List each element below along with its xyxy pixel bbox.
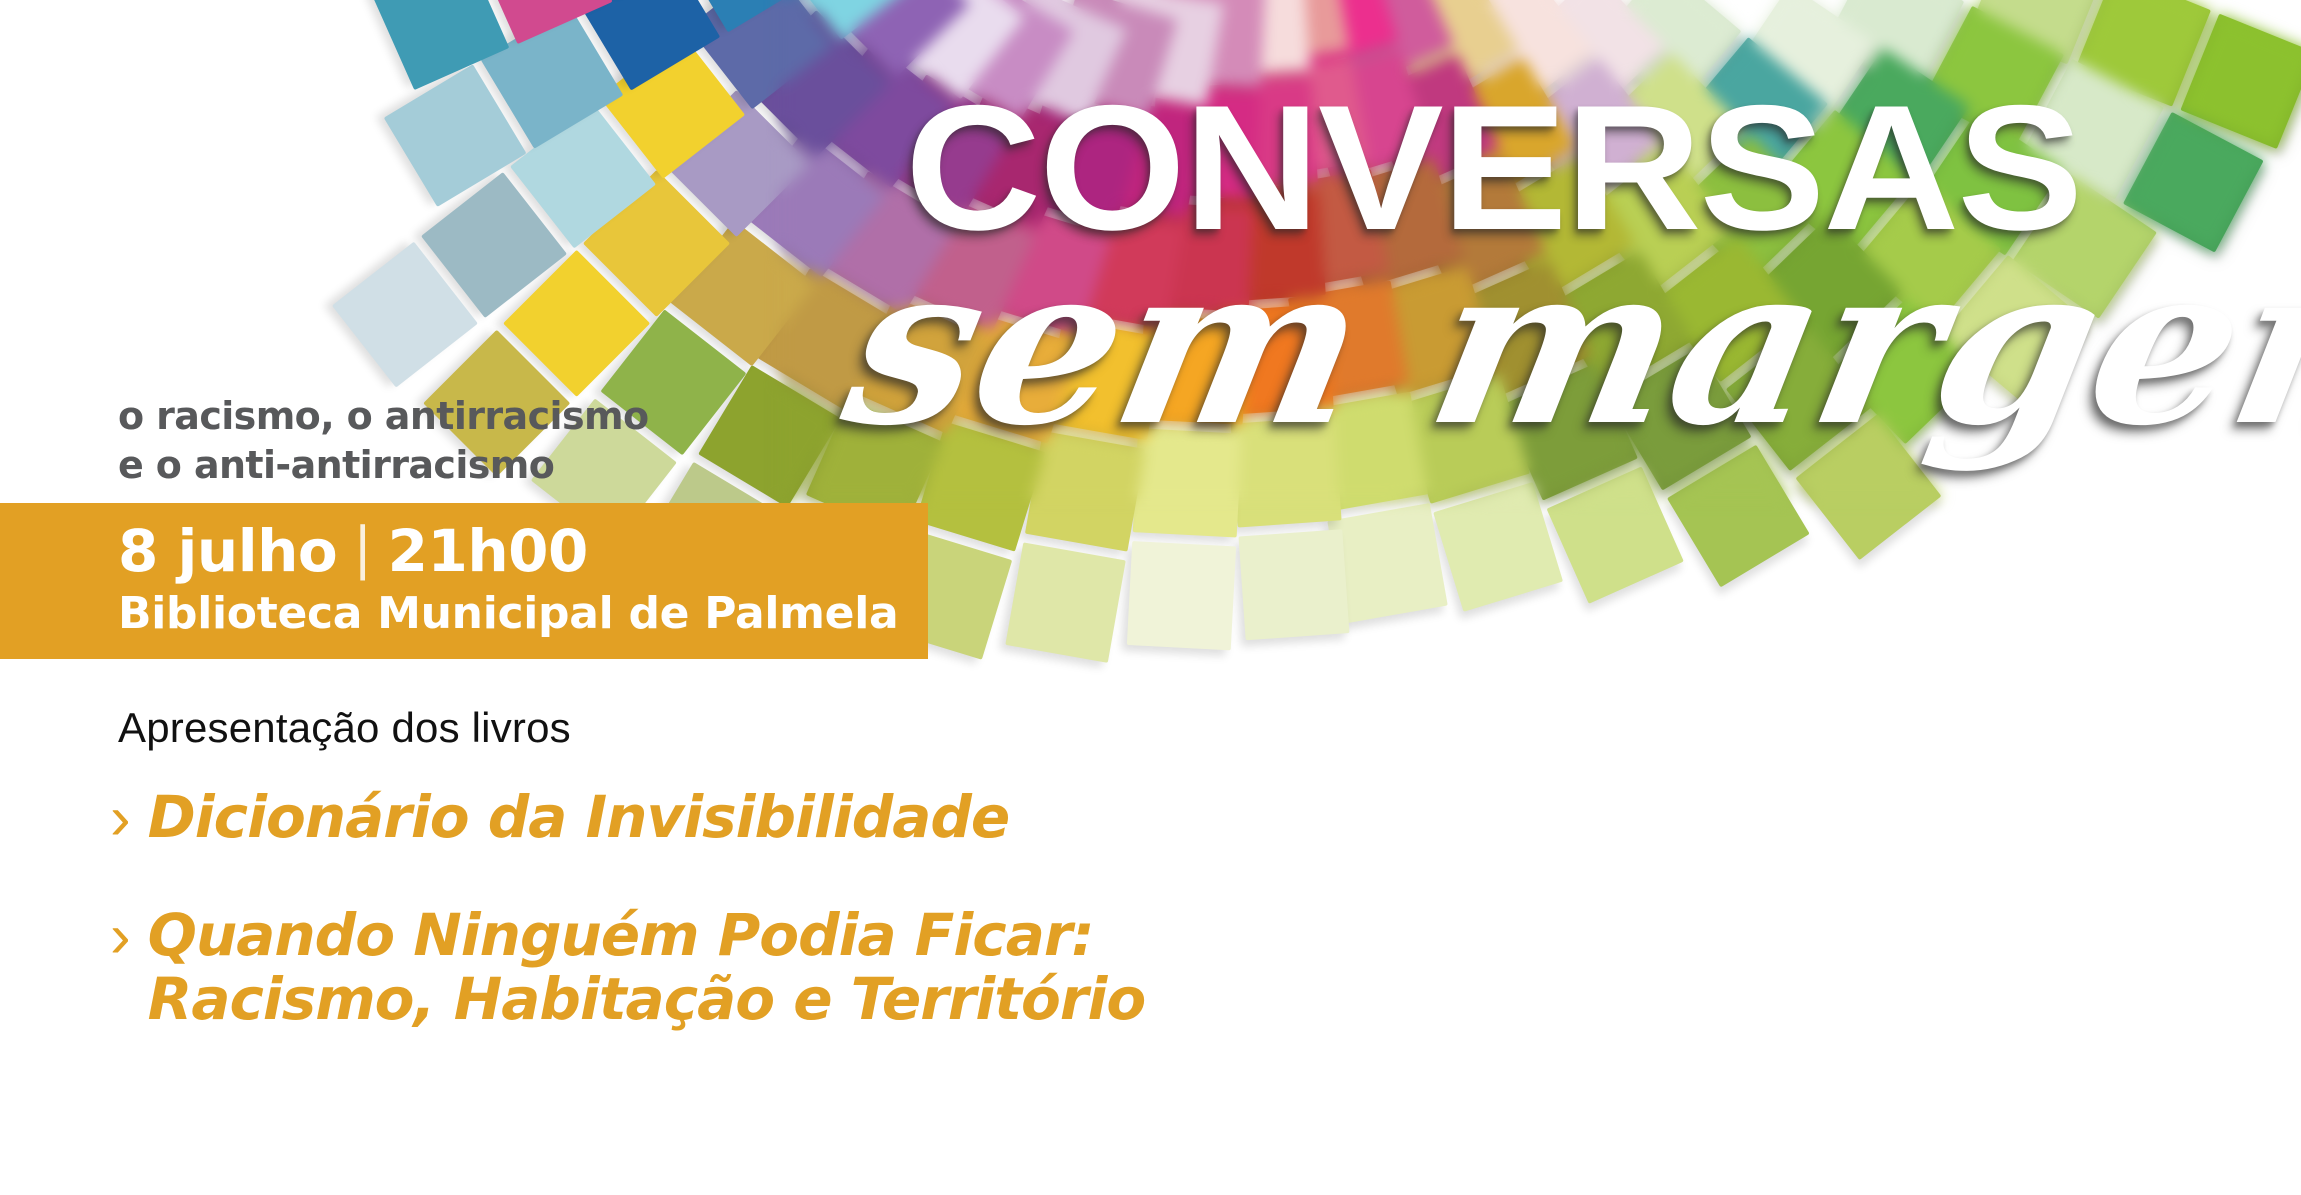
book-title-line: Quando Ninguém Podia Ficar: [148,904,1146,968]
colour-swatch [510,102,656,248]
swatch-strip [1206,0,2272,257]
colour-swatch [1199,0,1310,77]
colour-swatch [1434,57,1577,200]
colour-swatch [852,297,989,434]
colour-swatch [780,268,899,411]
colour-swatch [1941,255,2088,402]
colour-swatch [1376,0,1519,103]
colour-swatch [1229,0,1349,67]
colour-swatch [421,172,567,318]
colour-swatch [674,0,817,32]
colour-swatch [777,0,923,40]
book-item: › Quando Ninguém Podia Ficar: Racismo, H… [110,904,1145,1032]
colour-swatch [1587,147,1733,293]
colour-swatch [1156,0,1265,86]
colour-swatch [1676,135,1823,282]
swatch-strip [780,0,1262,393]
colour-swatch [1327,503,1447,623]
colour-swatch [1025,431,1145,551]
colour-swatch [1825,48,1969,192]
colour-swatch [1833,297,1980,444]
colour-swatch [1150,90,1259,199]
colour-swatch [1547,466,1684,603]
swatch-strip [1185,0,1814,500]
colour-swatch [1676,135,1823,282]
swatch-strip [780,0,1271,500]
colour-swatch [1064,209,1184,329]
colour-swatch [1656,236,1802,382]
colour-swatch [1667,445,1810,588]
colour-swatch [688,0,834,109]
colour-swatch [1681,37,1828,184]
colour-swatch [481,6,624,149]
colour-swatch [809,42,955,188]
swatch-strip [1180,0,1565,500]
colour-swatch [1492,154,1635,297]
colour-swatch [1434,57,1577,200]
colour-swatch [944,90,1081,227]
colour-swatch [780,220,816,366]
colour-swatch [1084,97,1204,217]
colour-swatch [1133,428,1242,537]
colour-swatch [1215,191,1326,302]
colour-swatch [990,0,1127,124]
colour-swatch [1795,414,1941,560]
colour-swatch [1367,266,1497,396]
colour-swatch [1492,154,1635,297]
colour-swatch [1732,0,1876,129]
colour-swatch [1824,0,1965,93]
swatch-strip [1182,0,1687,500]
colour-swatch [1971,0,2106,64]
colour-swatch [1855,182,2002,329]
colour-swatch [1268,169,1388,289]
colour-swatch [2076,0,2211,107]
swatch-strip [1201,0,2164,324]
colour-swatch [2180,14,2301,149]
colour-swatch [1048,0,1178,119]
colour-swatch [1795,414,1941,500]
swatch-strip [1193,0,1987,451]
colour-swatch [698,365,841,508]
colour-swatch [1288,280,1408,400]
colour-swatch [577,0,720,91]
colour-swatch [1768,110,1915,257]
colour-swatch [756,268,899,411]
swatch-strip [1197,0,2095,407]
event-poster: CONVERSAS sem margens o racismo, o antir… [0,0,2301,1195]
colour-swatch [1824,0,1965,93]
colour-swatch [1223,304,1334,415]
colour-swatch [2076,0,2211,107]
event-time: 21h00 [388,522,588,580]
colour-swatch [2023,59,2164,200]
swatch-strip [1126,0,1282,500]
colour-swatch [1103,0,1223,106]
colour-swatch [1681,37,1828,184]
colour-swatch [1064,209,1184,329]
colour-swatch [1045,320,1165,440]
swatch-strip [1179,0,1450,500]
colour-swatch [1249,58,1369,178]
colour-swatch [1288,280,1408,400]
colour-swatch [670,220,816,366]
colour-swatch [1145,203,1254,312]
colour-swatch [1133,428,1242,500]
colour-swatch [809,42,955,188]
colour-swatch [898,193,1035,330]
colour-swatch [944,90,1081,227]
colour-swatch [1025,431,1145,500]
datetime-separator: | [353,521,371,577]
chevron-right-icon: › [110,904,130,969]
colour-swatch [1084,97,1204,217]
colour-swatch [948,314,1078,444]
colour-swatch [1334,158,1464,288]
subject-line-1: o racismo, o antirracismo [118,392,648,441]
colour-swatch [1014,98,1144,228]
swatch-strip [1211,0,2301,152]
colour-swatch [780,90,810,237]
colour-swatch [1376,0,1519,103]
colour-swatch [1229,0,1349,67]
colour-swatch [1207,78,1318,189]
book-title-line: Dicionário da Invisibilidade [148,786,1010,850]
colour-swatch [1223,304,1334,415]
colour-swatch [1517,58,1663,204]
colour-swatch [873,74,1016,217]
swatch-strip [1185,0,1814,595]
colour-swatch [2023,59,2164,200]
swatch-strip [880,0,1280,668]
colour-swatch [1941,255,2088,402]
colour-swatch [475,0,612,44]
colour-swatch [1501,363,1638,500]
colour-swatch [1732,0,1876,129]
colour-swatch [1048,0,1178,119]
colour-swatch [823,0,970,77]
colour-swatch [806,400,943,500]
colour-swatch [1367,266,1497,396]
swatch-strip [1178,0,1350,649]
colour-swatch [1301,50,1431,180]
swatch-strip [780,0,1278,500]
subject-line-2: e o anti-antirracismo [118,441,648,490]
event-date: 8 julho [118,522,337,580]
event-venue: Biblioteca Municipal de Palmela [118,592,898,636]
colour-swatch [1768,110,1915,257]
colour-swatch [1199,0,1310,77]
swatch-strip [780,0,1267,483]
swatch-strip [1180,0,1565,620]
colour-swatch [1400,374,1530,504]
colour-swatch [1268,0,1398,72]
colour-swatch [815,171,958,314]
colour-swatch [1156,0,1265,86]
colour-swatch [1139,315,1248,424]
colour-swatch [1598,53,1745,200]
colour-swatch [981,206,1111,336]
colour-swatch [990,0,1127,124]
colour-swatch [1587,147,1733,293]
colour-swatch [2180,14,2301,149]
swatch-strip [1004,0,1281,500]
colour-swatch [1317,0,1454,88]
colour-swatch [1334,158,1464,288]
colour-swatch [583,170,730,317]
colour-swatch [1726,325,1872,471]
swatch-strip [1201,0,2164,324]
swatch-strip [1126,0,1282,659]
swatch-strip [1189,0,1947,500]
swatch-strip [1004,0,1281,672]
colour-swatch [1215,191,1326,302]
colour-swatch [879,0,1025,99]
colour-swatch [1726,325,1872,471]
book-item: › Dicionário da Invisibilidade [110,786,1009,851]
colour-swatch [1519,0,1666,119]
colour-swatch [915,422,1045,552]
page-title: CONVERSAS [905,85,2081,251]
swatch-strip [780,0,1251,94]
colour-swatch [1103,0,1223,106]
page-subtitle-script: sem margens [832,235,2301,455]
colour-swatch-fan-blurred-overlay [780,0,2301,500]
colour-swatch [780,10,890,157]
chevron-right-icon: › [110,786,130,851]
swatch-strip [780,0,1257,212]
event-datetime: 8 julho | 21h00 [118,522,588,580]
book-title: Dicionário da Invisibilidade [148,786,1010,850]
swatch-strip [1178,0,1350,500]
colour-swatch [1825,48,1969,192]
subject-heading: o racismo, o antirracismo e o anti-antir… [118,392,648,491]
colour-swatch [1595,0,1742,111]
colour-swatch [1139,315,1248,424]
colour-swatch [1249,58,1369,178]
colour-swatch [873,74,1016,217]
colour-swatch [1045,320,1165,440]
colour-swatch [1238,529,1349,640]
colour-swatch [780,0,817,32]
colour-swatch [1609,348,1752,491]
colour-swatch [1833,297,1980,444]
book-title-line: Racismo, Habitação e Território [148,968,1146,1032]
colour-swatch [1268,169,1388,289]
colour-swatch [1923,6,2064,147]
colour-swatch [1207,78,1318,189]
colour-swatch [1971,0,2106,64]
colour-swatch [915,422,1045,500]
colour-swatch [1005,542,1125,662]
colour-swatch [1855,182,2002,329]
colour-swatch [852,297,989,434]
colour-swatch [1598,53,1745,200]
colour-swatch [1547,466,1684,500]
colour-swatch [1919,111,2063,255]
colour-swatch [1433,482,1563,500]
colour-swatch [1609,348,1752,491]
colour-swatch [1127,541,1236,650]
colour-swatch [948,314,1078,444]
colour-swatch [743,10,890,157]
colour-swatch [1231,417,1342,500]
colour-swatch [1409,157,1546,294]
colour-swatch [1448,0,1594,115]
colour-swatch [931,0,1074,120]
colour-swatch [898,193,1035,330]
colour-swatch [1400,374,1530,500]
colour-swatch [1919,111,2063,255]
colour-swatch [1363,54,1500,191]
colour-swatch [740,131,886,277]
colour-swatch [1595,0,1742,111]
colour-swatch [384,64,527,207]
colour-swatch [1551,251,1694,394]
colour-swatch [1455,260,1592,397]
colour-swatch [1433,482,1563,612]
colour-swatch [1308,392,1428,500]
colour-swatch [1363,54,1500,191]
poster-headline: CONVERSAS sem margens [905,85,2301,535]
colour-swatch [663,90,810,237]
swatch-strip [376,0,1257,212]
colour-swatch [1501,363,1638,500]
colour-swatch [1231,417,1342,528]
colour-swatch [780,365,841,500]
colour-swatch [780,0,923,40]
colour-swatch [1301,50,1431,180]
colour-swatch [1317,0,1454,88]
book-title: Quando Ninguém Podia Ficar: Racismo, Hab… [148,904,1146,1032]
colour-swatch [1519,0,1666,119]
swatch-strip [1211,0,2301,152]
colour-swatch [1409,157,1546,294]
colour-swatch [1517,58,1663,204]
colour-swatch [599,33,745,179]
colour-swatch [2013,174,2157,318]
colour-swatch [981,206,1111,336]
swatch-strip [325,0,1262,393]
colour-swatch [1455,260,1592,397]
swatch-strip [1179,0,1450,632]
colour-swatch [1755,216,1902,363]
swatch-strip [1189,0,1947,567]
colour-swatch [780,131,886,277]
colour-swatch [503,250,650,397]
colour-swatch [931,0,1074,120]
swatch-strip [1182,0,1687,612]
swatch-strip [364,0,1251,94]
swatch-strip [1193,0,1987,451]
colour-swatch [2123,112,2264,253]
swatch-strip [1206,0,2272,257]
colour-swatch [1923,6,2064,147]
colour-swatch [1667,445,1810,500]
colour-swatch [815,171,958,314]
colour-swatch [780,462,783,500]
colour-swatch [332,242,478,388]
swatch-strip [1197,0,2095,407]
colour-swatch [372,0,509,90]
colour-swatch [879,0,1025,99]
swatch-strip [880,0,1280,500]
swatch-strip [780,0,1275,500]
colour-swatch [1145,203,1254,312]
colour-swatch [780,0,834,109]
colour-swatch [1448,0,1594,115]
books-intro-label: Apresentação dos livros [118,707,571,749]
colour-swatch [1755,216,1902,363]
colour-swatch [1656,236,1802,382]
colour-swatch [2013,174,2157,318]
colour-swatch [1150,90,1259,199]
colour-swatch [1551,251,1694,394]
colour-swatch [823,0,970,77]
colour-swatch [1014,98,1144,228]
colour-swatch [2123,112,2264,253]
colour-swatch [1268,0,1398,72]
colour-swatch [1308,392,1428,512]
